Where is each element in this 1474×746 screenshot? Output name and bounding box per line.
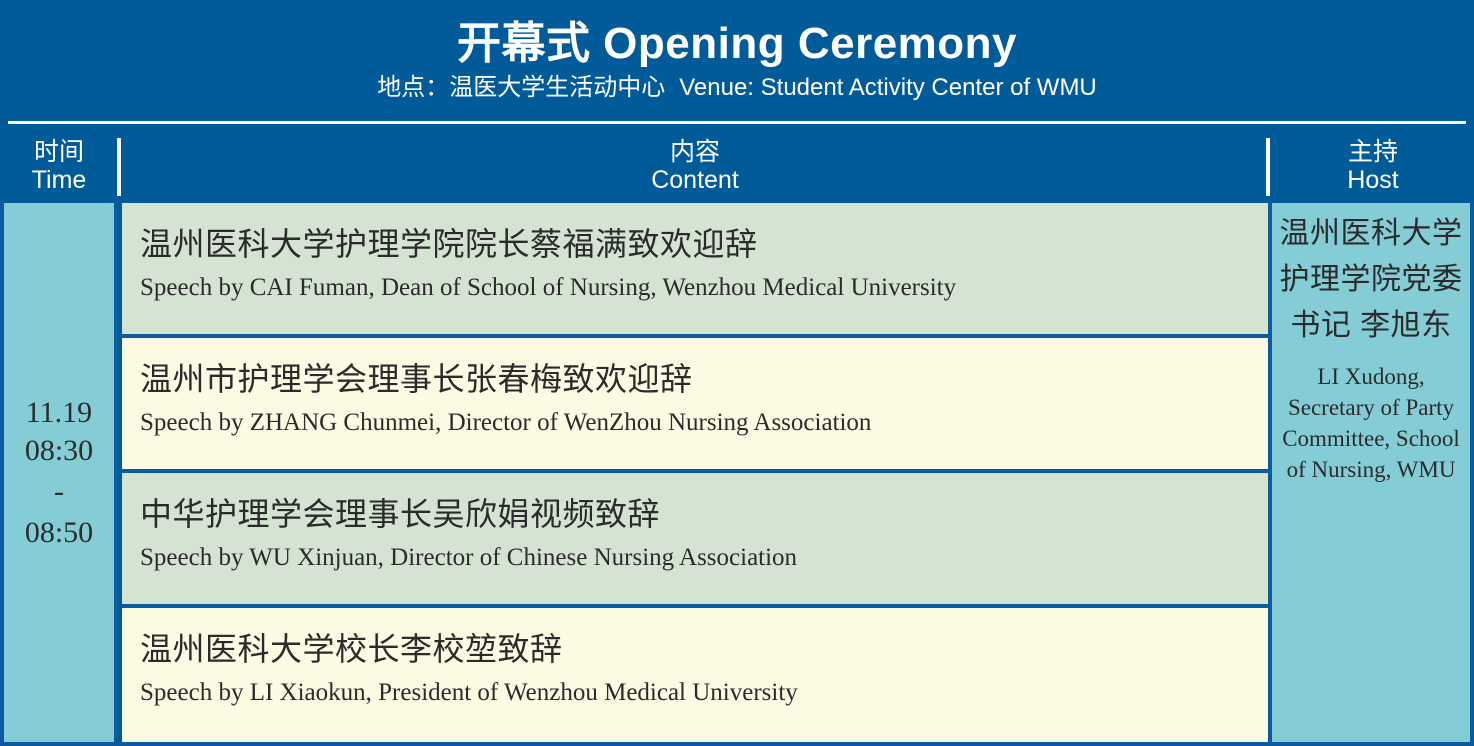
column-header-content-cn: 内容 (670, 138, 720, 166)
title-divider (8, 121, 1466, 124)
row-title-en: Speech by ZHANG Chunmei, Director of Wen… (140, 400, 1268, 440)
page-title: 开幕式 Opening Ceremony (0, 0, 1474, 70)
column-header-time-en: Time (32, 166, 87, 194)
header-divider-right (1266, 138, 1270, 196)
column-header-time: 时间 Time (0, 128, 118, 203)
column-header-content: 内容 Content (122, 128, 1268, 203)
host-name-en: LI Xudong, Secretary of Party Committee,… (1278, 349, 1464, 485)
column-header-host-cn: 主持 (1348, 138, 1398, 166)
frame-border-left (0, 203, 4, 746)
row-title-en: Speech by LI Xiaokun, President of Wenzh… (140, 670, 1268, 710)
frame-border-host-separator (1268, 203, 1272, 746)
column-header-host-en: Host (1347, 166, 1398, 194)
venue-line: 地点：温医大学生活动中心Venue: Student Activity Cent… (0, 70, 1474, 103)
opening-ceremony-schedule-poster: 开幕式 Opening Ceremony 地点：温医大学生活动中心Venue: … (0, 0, 1474, 746)
header-divider-left (117, 138, 121, 196)
column-header-time-cn: 时间 (34, 138, 84, 166)
row-title-cn: 温州医科大学护理学院院长蔡福满致欢迎辞 (140, 223, 1268, 265)
table-body: 11.19 08:30 - 08:50 温州医科大学护理学院院长蔡福满致欢迎辞 … (0, 203, 1474, 746)
frame-border-bottom (0, 742, 1474, 746)
venue-label-cn: 地点：温医大学生活动中心 (377, 74, 665, 101)
row-title-cn: 温州市护理学会理事长张春梅致欢迎辞 (140, 358, 1268, 400)
time-end: 08:50 (25, 516, 93, 549)
time-cell: 11.19 08:30 - 08:50 (4, 203, 118, 742)
row-title-cn: 温州医科大学校长李校堃致辞 (140, 628, 1268, 670)
row-title-en: Speech by WU Xinjuan, Director of Chines… (140, 535, 1268, 575)
table-row: 中华护理学会理事长吴欣娟视频致辞 Speech by WU Xinjuan, D… (122, 473, 1268, 608)
table-column-header: 时间 Time 内容 Content 主持 Host (0, 128, 1474, 203)
venue-label-en: Venue: Student Activity Center of WMU (679, 74, 1097, 101)
host-cell: 温州医科大学护理学院党委书记 李旭东 LI Xudong, Secretary … (1272, 203, 1470, 742)
time-dash: - (25, 470, 93, 514)
row-title-cn: 中华护理学会理事长吴欣娟视频致辞 (140, 493, 1268, 535)
column-header-content-en: Content (651, 166, 739, 194)
time-date: 11.19 (26, 396, 92, 429)
table-row: 温州市护理学会理事长张春梅致欢迎辞 Speech by ZHANG Chunme… (122, 338, 1268, 473)
table-row: 温州医科大学护理学院院长蔡福满致欢迎辞 Speech by CAI Fuman,… (122, 203, 1268, 338)
row-title-en: Speech by CAI Fuman, Dean of School of N… (140, 265, 1268, 305)
time-start: 08:30 (25, 434, 93, 467)
time-cell-text: 11.19 08:30 - 08:50 (25, 394, 93, 552)
frame-border-right (1470, 203, 1474, 746)
table-row: 温州医科大学校长李校堃致辞 Speech by LI Xiaokun, Pres… (122, 608, 1268, 742)
host-name-cn: 温州医科大学护理学院党委书记 李旭东 (1278, 211, 1464, 349)
content-column: 温州医科大学护理学院院长蔡福满致欢迎辞 Speech by CAI Fuman,… (122, 203, 1268, 742)
column-header-host: 主持 Host (1272, 128, 1474, 203)
title-block: 开幕式 Opening Ceremony 地点：温医大学生活动中心Venue: … (0, 0, 1474, 121)
